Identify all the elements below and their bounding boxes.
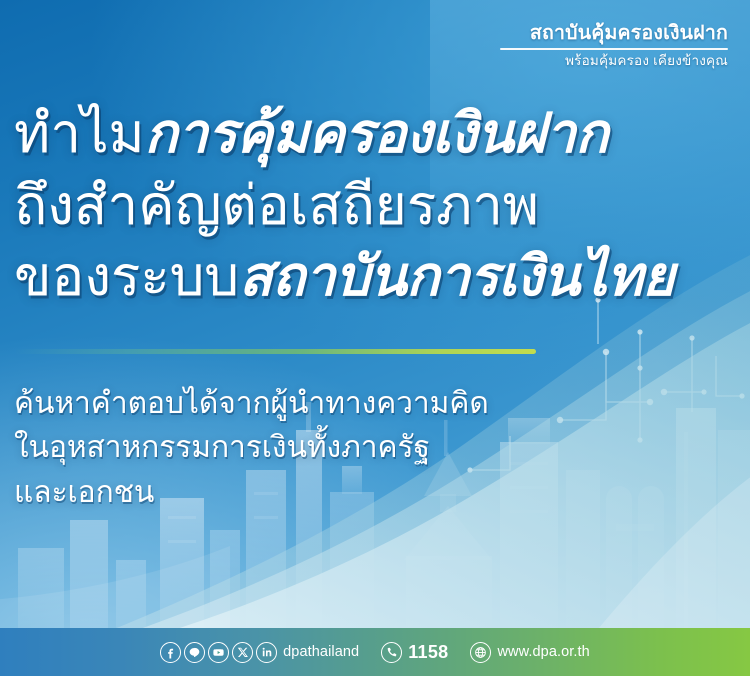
footer-contact-bar: dpathailand 1158 www.dpa.or.th (0, 628, 750, 676)
phone-group[interactable]: 1158 (381, 642, 448, 663)
line-icon[interactable] (184, 642, 205, 663)
subtitle-line-2: ในอุหสาหกรรมการเงินทั้งภาครัฐ (14, 426, 489, 470)
subtitle-line-3: และเอกชน (14, 471, 489, 515)
linkedin-icon[interactable] (256, 642, 277, 663)
globe-icon (470, 642, 491, 663)
dpa-logo: สถาบันคุ้มครองเงินฝาก พร้อมคุ้มครอง เคีย… (500, 22, 728, 69)
accent-divider (14, 349, 536, 354)
social-icon-list (160, 642, 277, 663)
headline-line-1-regular: ทำไม (14, 102, 144, 164)
headline-line-3: ของระบบสถาบันการเงินไทย (14, 241, 740, 313)
logo-organization-name: สถาบันคุ้มครองเงินฝาก (500, 22, 728, 44)
headline-line-2: ถึงสำคัญต่อเสถียรภาพ (14, 170, 740, 242)
headline-line-1-emphasis: การคุ้มครองเงินฝาก (144, 102, 608, 164)
social-handle-label[interactable]: dpathailand (283, 644, 359, 660)
social-group: dpathailand (160, 642, 359, 663)
headline-line-3-regular: ของระบบ (14, 245, 239, 307)
subtitle-line-1: ค้นหาคำตอบได้จากผู้นำทางความคิด (14, 382, 489, 426)
headline: ทำไมการคุ้มครองเงินฝาก ถึงสำคัญต่อเสถียร… (14, 98, 740, 313)
phone-icon (381, 642, 402, 663)
headline-line-3-emphasis: สถาบันการเงินไทย (239, 245, 674, 307)
logo-divider-rule (500, 48, 728, 49)
subtitle: ค้นหาคำตอบได้จากผู้นำทางความคิด ในอุหสาห… (14, 382, 489, 515)
facebook-icon[interactable] (160, 642, 181, 663)
phone-number[interactable]: 1158 (408, 642, 448, 663)
logo-tagline: พร้อมคุ้มครอง เคียงข้างคุณ (500, 53, 728, 69)
website-url[interactable]: www.dpa.or.th (497, 644, 589, 660)
promotional-banner: สถาบันคุ้มครองเงินฝาก พร้อมคุ้มครอง เคีย… (0, 0, 750, 676)
website-group[interactable]: www.dpa.or.th (470, 642, 589, 663)
headline-line-2-regular: ถึงสำคัญต่อเสถียรภาพ (14, 174, 539, 236)
x-twitter-icon[interactable] (232, 642, 253, 663)
youtube-icon[interactable] (208, 642, 229, 663)
headline-line-1: ทำไมการคุ้มครองเงินฝาก (14, 98, 740, 170)
